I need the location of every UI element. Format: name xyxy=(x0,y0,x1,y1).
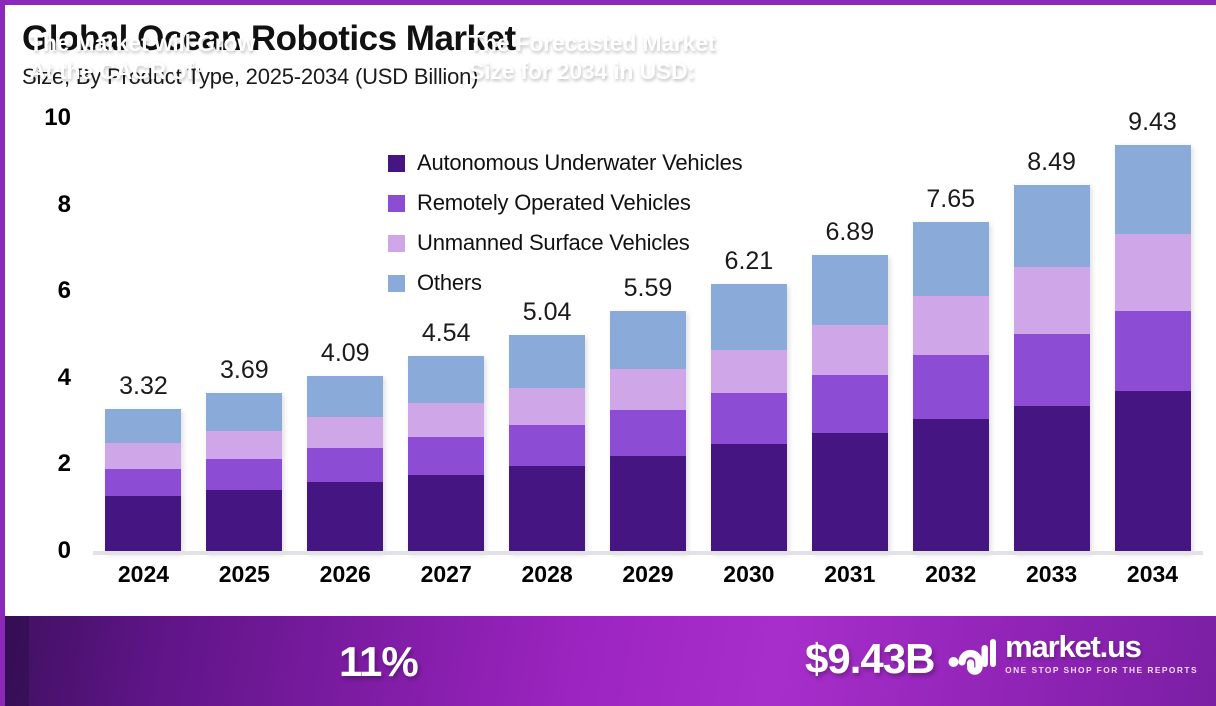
market-us-logo[interactable]: market.us ONE STOP SHOP FOR THE REPORTS xyxy=(948,631,1198,675)
x-axis-labels: 2024202520262027202820292030203120322033… xyxy=(93,561,1203,601)
bar-total-label: 4.09 xyxy=(307,339,383,368)
bar-segment[interactable] xyxy=(509,466,585,553)
bar-segment[interactable] xyxy=(711,393,787,444)
bar-segment[interactable] xyxy=(913,296,989,355)
bar-segment[interactable] xyxy=(1115,391,1191,553)
bar-segment[interactable] xyxy=(610,410,686,456)
chart-legend: Autonomous Underwater VehiclesRemotely O… xyxy=(388,143,742,303)
bar-segment[interactable] xyxy=(812,255,888,326)
bar-segment[interactable] xyxy=(913,222,989,296)
bar-segment[interactable] xyxy=(307,417,383,448)
bar-segment[interactable] xyxy=(105,409,181,443)
market-us-logo-mark xyxy=(948,631,996,675)
footer-forecast-value: $9.43B xyxy=(805,635,934,683)
bar-segment[interactable] xyxy=(408,475,484,553)
bar-segment[interactable] xyxy=(711,350,787,394)
logo-wordmark: market.us xyxy=(1005,631,1198,662)
stacked-bar[interactable] xyxy=(509,335,585,553)
legend-item[interactable]: Unmanned Surface Vehicles xyxy=(388,223,742,263)
stacked-bar[interactable] xyxy=(610,311,686,553)
bar-column[interactable]: 9.43 xyxy=(1115,115,1191,553)
bar-segment[interactable] xyxy=(105,443,181,468)
legend-item[interactable]: Others xyxy=(388,263,742,303)
bar-segment[interactable] xyxy=(1014,267,1090,334)
x-axis-tick: 2028 xyxy=(509,561,585,588)
bar-segment[interactable] xyxy=(1115,145,1191,235)
legend-label: Unmanned Surface Vehicles xyxy=(417,230,690,256)
bar-segment[interactable] xyxy=(913,419,989,553)
infographic-root: Global Ocean Robotics Market Size, By Pr… xyxy=(0,0,1216,706)
bar-segment[interactable] xyxy=(206,431,282,459)
bar-segment[interactable] xyxy=(206,459,282,490)
footer-cagr-line1: The Market will Grow xyxy=(29,29,255,57)
x-axis-tick: 2034 xyxy=(1115,561,1191,588)
bar-segment[interactable] xyxy=(408,356,484,403)
bar-total-label: 6.89 xyxy=(812,218,888,247)
bar-segment[interactable] xyxy=(1115,234,1191,310)
bar-total-label: 7.65 xyxy=(913,185,989,214)
bar-segment[interactable] xyxy=(509,388,585,425)
legend-item[interactable]: Autonomous Underwater Vehicles xyxy=(388,143,742,183)
bar-segment[interactable] xyxy=(1014,334,1090,406)
bar-segment[interactable] xyxy=(913,355,989,420)
footer-cagr-label: The Market will Grow At the CAGR of: xyxy=(29,29,255,85)
bar-segment[interactable] xyxy=(105,469,181,496)
legend-label: Others xyxy=(417,270,482,296)
footer-forecast-label: The Forecasted Market Size for 2034 in U… xyxy=(469,29,715,85)
y-axis-labels: 0246810 xyxy=(5,115,93,555)
stacked-bar[interactable] xyxy=(206,393,282,553)
legend-swatch-icon xyxy=(388,235,405,252)
x-axis-tick: 2031 xyxy=(812,561,888,588)
bar-segment[interactable] xyxy=(206,490,282,553)
bar-segment[interactable] xyxy=(1014,185,1090,267)
logo-tagline: ONE STOP SHOP FOR THE REPORTS xyxy=(1005,665,1198,675)
bar-column[interactable]: 6.89 xyxy=(812,115,888,553)
y-axis-tick: 10 xyxy=(44,104,71,132)
market-us-logo-text: market.us ONE STOP SHOP FOR THE REPORTS xyxy=(1005,631,1198,675)
bar-column[interactable]: 3.69 xyxy=(206,115,282,553)
bar-total-label: 8.49 xyxy=(1014,148,1090,177)
x-axis-tick: 2033 xyxy=(1014,561,1090,588)
bar-segment[interactable] xyxy=(408,437,484,475)
stacked-bar[interactable] xyxy=(1115,145,1191,553)
bar-column[interactable]: 8.49 xyxy=(1014,115,1090,553)
legend-label: Remotely Operated Vehicles xyxy=(417,190,691,216)
legend-swatch-icon xyxy=(388,275,405,292)
bar-total-label: 3.69 xyxy=(206,356,282,385)
bar-total-label: 9.43 xyxy=(1115,108,1191,137)
x-axis-tick: 2030 xyxy=(711,561,787,588)
bar-segment[interactable] xyxy=(610,369,686,410)
bar-column[interactable]: 7.65 xyxy=(913,115,989,553)
y-axis-tick: 2 xyxy=(58,450,71,478)
x-axis-tick: 2032 xyxy=(913,561,989,588)
bar-total-label: 3.32 xyxy=(105,372,181,401)
bar-segment[interactable] xyxy=(1014,406,1090,553)
stacked-bar[interactable] xyxy=(711,284,787,553)
stacked-bar[interactable] xyxy=(307,376,383,553)
stacked-bar[interactable] xyxy=(812,255,888,553)
stacked-bar[interactable] xyxy=(913,222,989,553)
x-axis-tick: 2025 xyxy=(206,561,282,588)
bar-segment[interactable] xyxy=(105,496,181,553)
legend-label: Autonomous Underwater Vehicles xyxy=(417,150,742,176)
bar-segment[interactable] xyxy=(610,311,686,369)
footer-cagr-value: 11% xyxy=(339,638,418,686)
footer-cagr-line2: At the CAGR of: xyxy=(29,57,255,85)
x-axis-tick: 2027 xyxy=(408,561,484,588)
bar-column[interactable]: 4.09 xyxy=(307,115,383,553)
bar-segment[interactable] xyxy=(206,393,282,431)
bar-segment[interactable] xyxy=(307,376,383,417)
stacked-bar[interactable] xyxy=(105,409,181,553)
bar-segment[interactable] xyxy=(711,444,787,553)
y-axis-tick: 4 xyxy=(58,364,71,392)
bar-column[interactable]: 3.32 xyxy=(105,115,181,553)
x-axis-tick: 2024 xyxy=(105,561,181,588)
legend-swatch-icon xyxy=(388,195,405,212)
stacked-bar[interactable] xyxy=(1014,185,1090,553)
y-axis-tick: 8 xyxy=(58,191,71,219)
x-axis-line xyxy=(93,551,1203,555)
legend-swatch-icon xyxy=(388,155,405,172)
legend-item[interactable]: Remotely Operated Vehicles xyxy=(388,183,742,223)
bar-segment[interactable] xyxy=(509,335,585,388)
footer-forecast-line2: Size for 2034 in USD: xyxy=(469,57,715,85)
bar-segment[interactable] xyxy=(812,325,888,375)
y-axis-tick: 6 xyxy=(58,277,71,305)
bar-total-label: 4.54 xyxy=(408,319,484,348)
bar-segment[interactable] xyxy=(307,482,383,553)
y-axis-tick: 0 xyxy=(58,537,71,565)
bar-segment[interactable] xyxy=(408,403,484,437)
x-axis-tick: 2026 xyxy=(307,561,383,588)
bar-segment[interactable] xyxy=(610,456,686,553)
bar-segment[interactable] xyxy=(307,448,383,482)
footer-forecast-line1: The Forecasted Market xyxy=(469,29,715,57)
bar-segment[interactable] xyxy=(812,433,888,553)
bar-segment[interactable] xyxy=(1115,311,1191,392)
bar-segment[interactable] xyxy=(509,425,585,467)
stacked-bar[interactable] xyxy=(408,356,484,553)
bar-segment[interactable] xyxy=(812,375,888,433)
x-axis-tick: 2029 xyxy=(610,561,686,588)
